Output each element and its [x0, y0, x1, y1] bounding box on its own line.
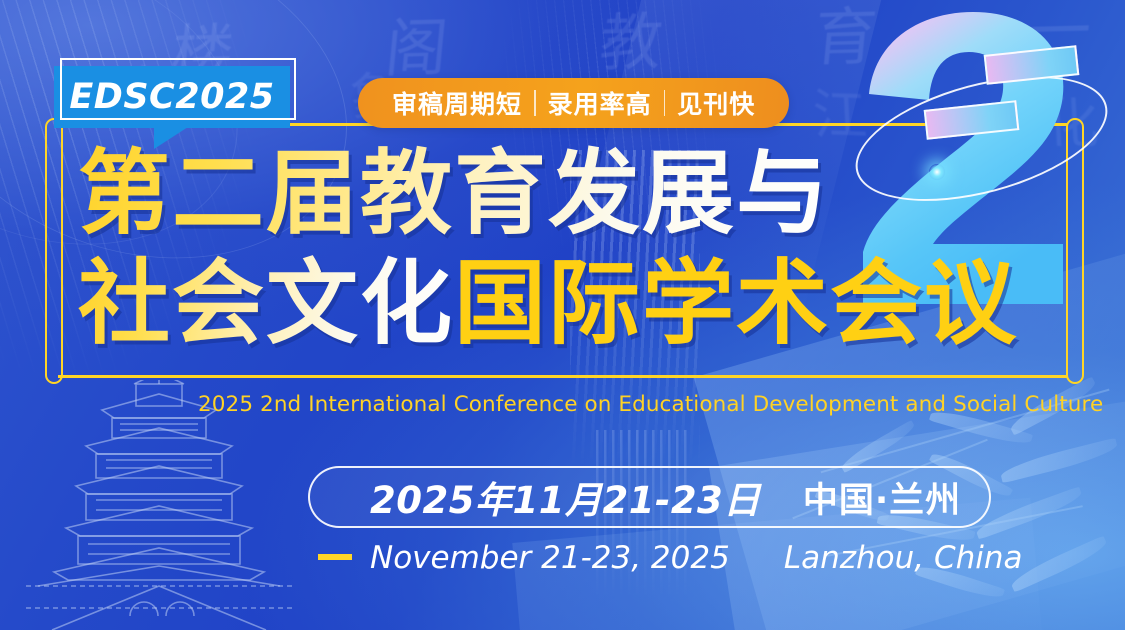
date-chinese: 2025年11月21-23日 [370, 470, 761, 524]
title-line-1-text: 第二届教育发展与 [78, 140, 830, 247]
location-chinese: 中国·兰州 [803, 472, 961, 523]
highlight-item-3: 见刊快 [665, 85, 767, 121]
title-line-2-gradient-text: 社会文化 [78, 250, 454, 357]
title-line-1: 第二届教育发展与 [78, 148, 830, 240]
date-row-english: November 21-23, 2025 Lanzhou, China [370, 538, 1023, 578]
date-english: November 21-23, 2025 [370, 540, 730, 576]
conference-banner: 楼 阁 教 育 一 文 流 山 象 二 江 化 明 [0, 0, 1125, 630]
acronym-badge: EDSC2025 [54, 66, 290, 128]
location-english: Lanzhou, China [784, 540, 1023, 576]
highlights-badge: 审稿周期短 录用率高 见刊快 [358, 78, 789, 128]
acronym-badge-label: EDSC2025 [54, 66, 290, 128]
title-line-2: 社会文化国际学术会议 [78, 258, 1018, 350]
highlight-item-2: 录用率高 [536, 85, 664, 121]
orbit-spark [929, 164, 945, 180]
subtitle-english: 2025 2nd International Conference on Edu… [198, 392, 1103, 417]
title-line-2-solid-text: 国际学术会议 [454, 250, 1018, 357]
date-dash-marker [318, 554, 352, 560]
highlight-item-1: 审稿周期短 [380, 85, 534, 121]
date-row-chinese: 2025年11月21-23日 中国·兰州 [370, 474, 961, 520]
